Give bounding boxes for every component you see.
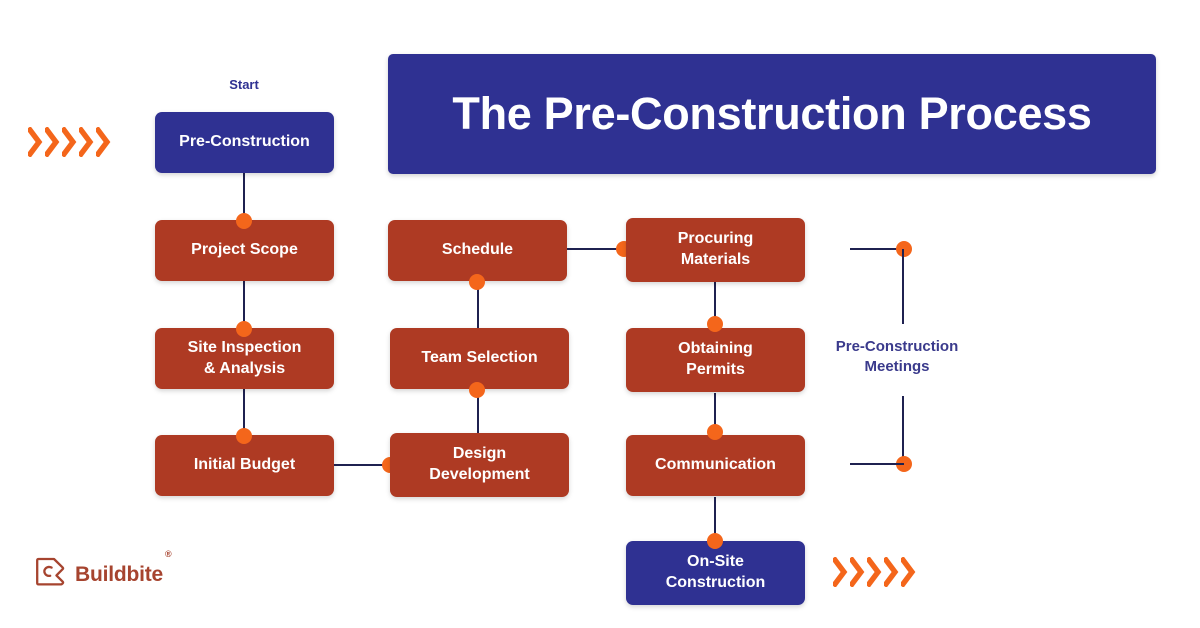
diagram-title-banner: The Pre-Construction Process bbox=[388, 54, 1156, 174]
node-label: Pre-Construction bbox=[179, 132, 310, 153]
node-initial-budget[interactable]: Initial Budget bbox=[155, 435, 334, 496]
node-team-selection[interactable]: Team Selection bbox=[390, 328, 569, 389]
bracket-top-stem bbox=[902, 249, 904, 324]
connector-dot-initial-budget bbox=[236, 428, 252, 444]
buildbite-logo-icon bbox=[34, 557, 66, 592]
node-procuring-materials[interactable]: Procuring Materials bbox=[626, 218, 805, 282]
bracket-annotation-line2: Meetings bbox=[864, 358, 929, 375]
node-communication[interactable]: Communication bbox=[626, 435, 805, 496]
node-label-line1: Obtaining bbox=[678, 340, 753, 357]
node-pre-construction[interactable]: Pre-Construction bbox=[155, 112, 334, 173]
connector-dot-team-selection bbox=[469, 382, 485, 398]
chevron-right-icon bbox=[850, 557, 865, 587]
brand-logo[interactable]: Buildbite ® bbox=[34, 557, 172, 592]
chevron-right-icon bbox=[901, 557, 916, 587]
node-design-development[interactable]: Design Development bbox=[390, 433, 569, 497]
node-label: Communication bbox=[655, 455, 776, 476]
node-project-scope[interactable]: Project Scope bbox=[155, 220, 334, 281]
node-label-line1: On-Site bbox=[687, 553, 744, 570]
diagram-canvas: The Pre-Construction Process Start Pre-C… bbox=[0, 0, 1200, 628]
chevron-right-icon bbox=[96, 127, 111, 157]
chevron-right-icon bbox=[884, 557, 899, 587]
node-label: Team Selection bbox=[421, 348, 537, 369]
registered-trademark-symbol: ® bbox=[165, 549, 172, 559]
connector-dot-communication bbox=[707, 424, 723, 440]
page-title: The Pre-Construction Process bbox=[452, 88, 1091, 140]
node-label-line2: Permits bbox=[686, 361, 745, 378]
chevron-right-icon bbox=[867, 557, 882, 587]
node-label-line1: Design bbox=[453, 445, 506, 462]
chevron-right-icon bbox=[833, 557, 848, 587]
bracket-top-dot bbox=[896, 241, 912, 257]
chevron-right-icon bbox=[62, 127, 77, 157]
node-obtaining-permits[interactable]: Obtaining Permits bbox=[626, 328, 805, 392]
chevron-right-icon bbox=[28, 127, 43, 157]
connector-dot-schedule bbox=[469, 274, 485, 290]
node-label-line2: & Analysis bbox=[204, 360, 285, 377]
node-label: Obtaining Permits bbox=[678, 339, 753, 381]
brand-wordmark: Buildbite bbox=[75, 563, 163, 587]
entry-chevrons bbox=[28, 127, 113, 157]
node-label-line1: Procuring bbox=[678, 230, 754, 247]
exit-chevrons bbox=[833, 557, 918, 587]
start-label: Start bbox=[195, 77, 293, 92]
node-label: On-Site Construction bbox=[666, 552, 766, 594]
node-label: Project Scope bbox=[191, 240, 298, 261]
connector-dot-site-inspection bbox=[236, 321, 252, 337]
connector-dot-project-scope bbox=[236, 213, 252, 229]
node-label: Site Inspection & Analysis bbox=[188, 338, 302, 380]
bracket-bottom-stem bbox=[902, 396, 904, 464]
node-schedule[interactable]: Schedule bbox=[388, 220, 567, 281]
node-label-line2: Materials bbox=[681, 251, 750, 268]
node-label-line2: Development bbox=[429, 466, 529, 483]
chevron-right-icon bbox=[79, 127, 94, 157]
bracket-bottom-arm bbox=[850, 463, 904, 465]
node-site-inspection-analysis[interactable]: Site Inspection & Analysis bbox=[155, 328, 334, 389]
bracket-annotation-label: Pre-Construction Meetings bbox=[807, 337, 987, 378]
node-onsite-construction[interactable]: On-Site Construction bbox=[626, 541, 805, 605]
node-label: Initial Budget bbox=[194, 455, 295, 476]
node-label: Procuring Materials bbox=[678, 229, 754, 271]
chevron-right-icon bbox=[45, 127, 60, 157]
bracket-annotation-line1: Pre-Construction bbox=[836, 338, 959, 355]
node-label-line2: Construction bbox=[666, 574, 766, 591]
node-label: Schedule bbox=[442, 240, 513, 261]
connector-dot-onsite-construction bbox=[707, 533, 723, 549]
node-label: Design Development bbox=[429, 444, 529, 486]
node-label-line1: Site Inspection bbox=[188, 339, 302, 356]
connector-dot-obtaining-permits bbox=[707, 316, 723, 332]
